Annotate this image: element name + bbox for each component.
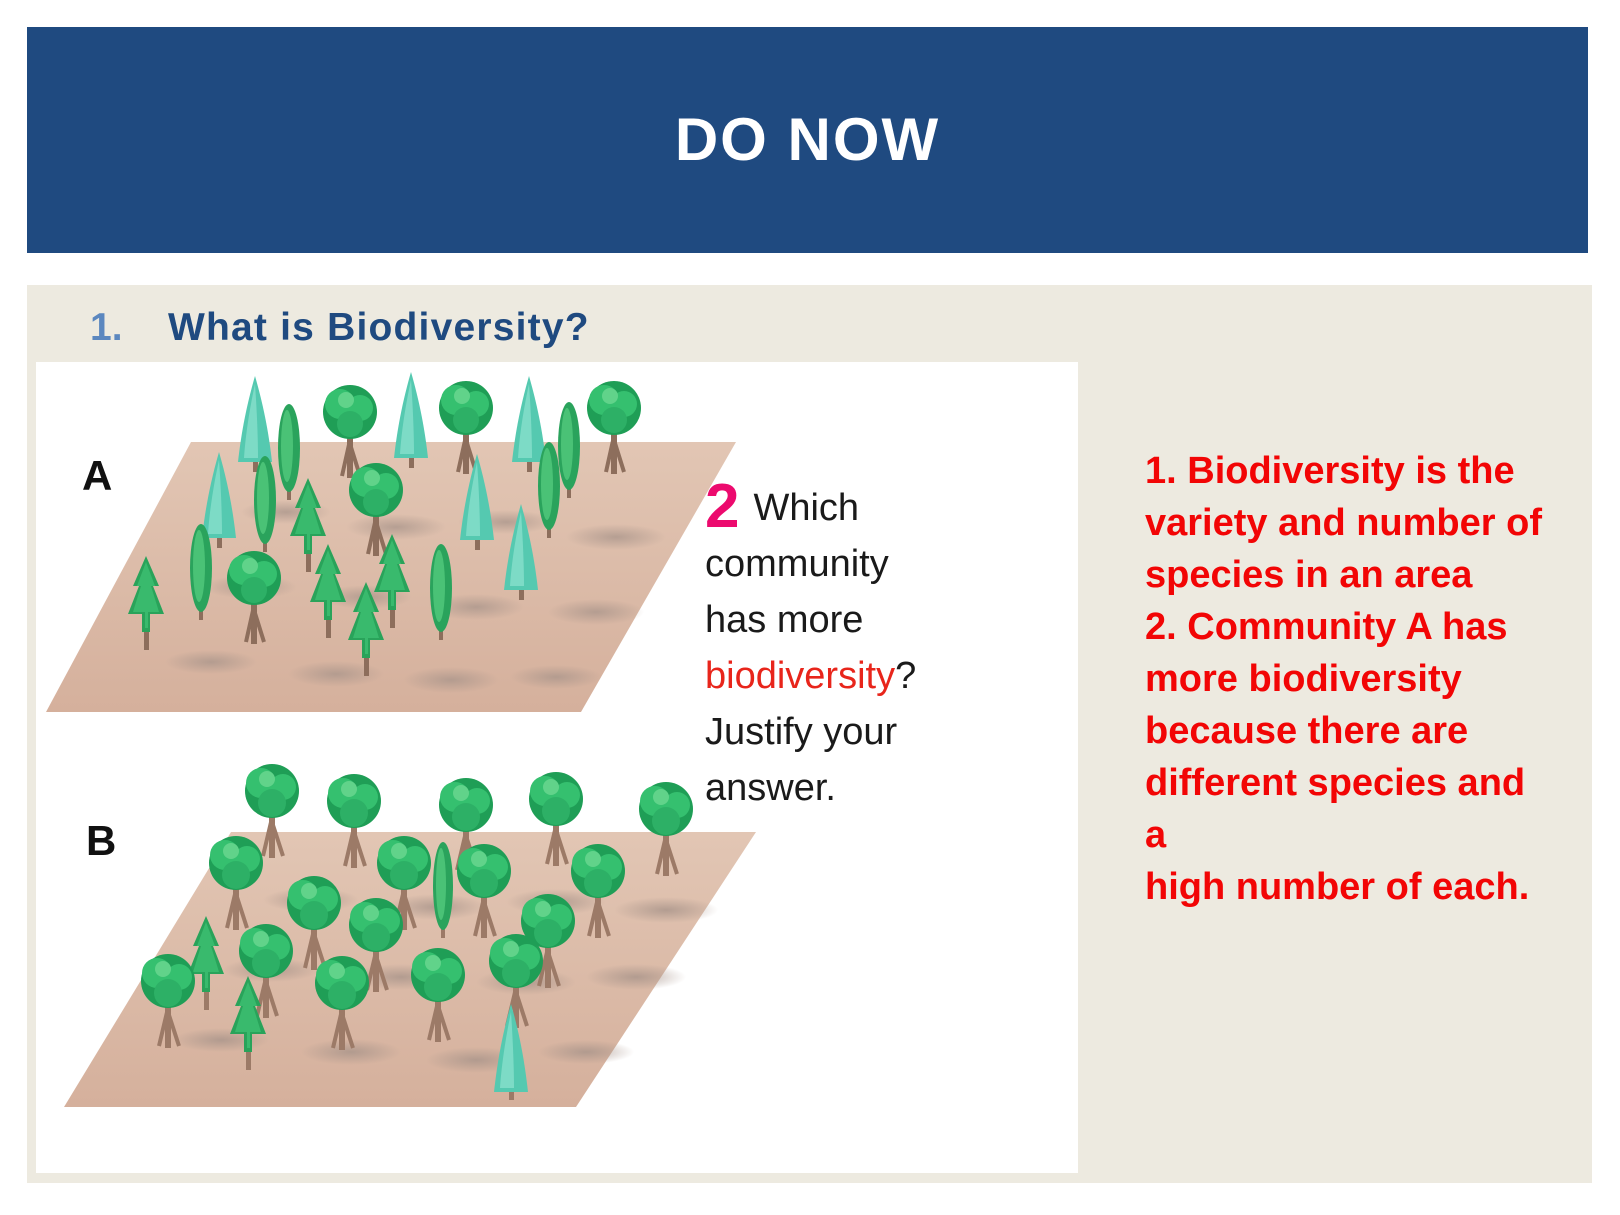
answer-line: because there are [1145, 705, 1545, 757]
q2-line-5: Justify your [705, 711, 897, 753]
community-b-diagram [56, 722, 756, 1122]
answer-line: variety and number of [1145, 497, 1545, 549]
answer-line: different species and a [1145, 757, 1545, 861]
answer-line: species in an area [1145, 549, 1545, 601]
answer-block: 1. Biodiversity is the variety and numbe… [1145, 445, 1545, 913]
page-title: DO NOW [675, 110, 940, 170]
q2-line-1: Which [753, 487, 859, 529]
answer-line: 2. Community A has [1145, 601, 1545, 653]
question-two-text: Which community has more biodiversity? J… [705, 480, 1035, 816]
title-banner: DO NOW [27, 27, 1588, 253]
q2-question-mark: ? [895, 655, 916, 697]
question-one-number: 1. [90, 306, 168, 350]
q2-line-3: has more [705, 599, 863, 641]
answer-line: more biodiversity [1145, 653, 1545, 705]
q2-keyword: biodiversity [705, 655, 895, 697]
question-one: 1. What is Biodiversity? [90, 306, 590, 350]
q2-line-6: answer. [705, 767, 836, 809]
content-panel: 1. What is Biodiversity? A B [27, 285, 1592, 1183]
question-one-text: What is Biodiversity? [168, 306, 590, 350]
q2-line-2: community [705, 543, 889, 585]
answer-line: high number of each. [1145, 861, 1545, 913]
community-a-diagram [36, 362, 736, 732]
question-two: 2 Which community has more biodiversity?… [705, 480, 1035, 816]
question-two-number: 2 [705, 480, 739, 534]
answer-line: 1. Biodiversity is the [1145, 445, 1545, 497]
